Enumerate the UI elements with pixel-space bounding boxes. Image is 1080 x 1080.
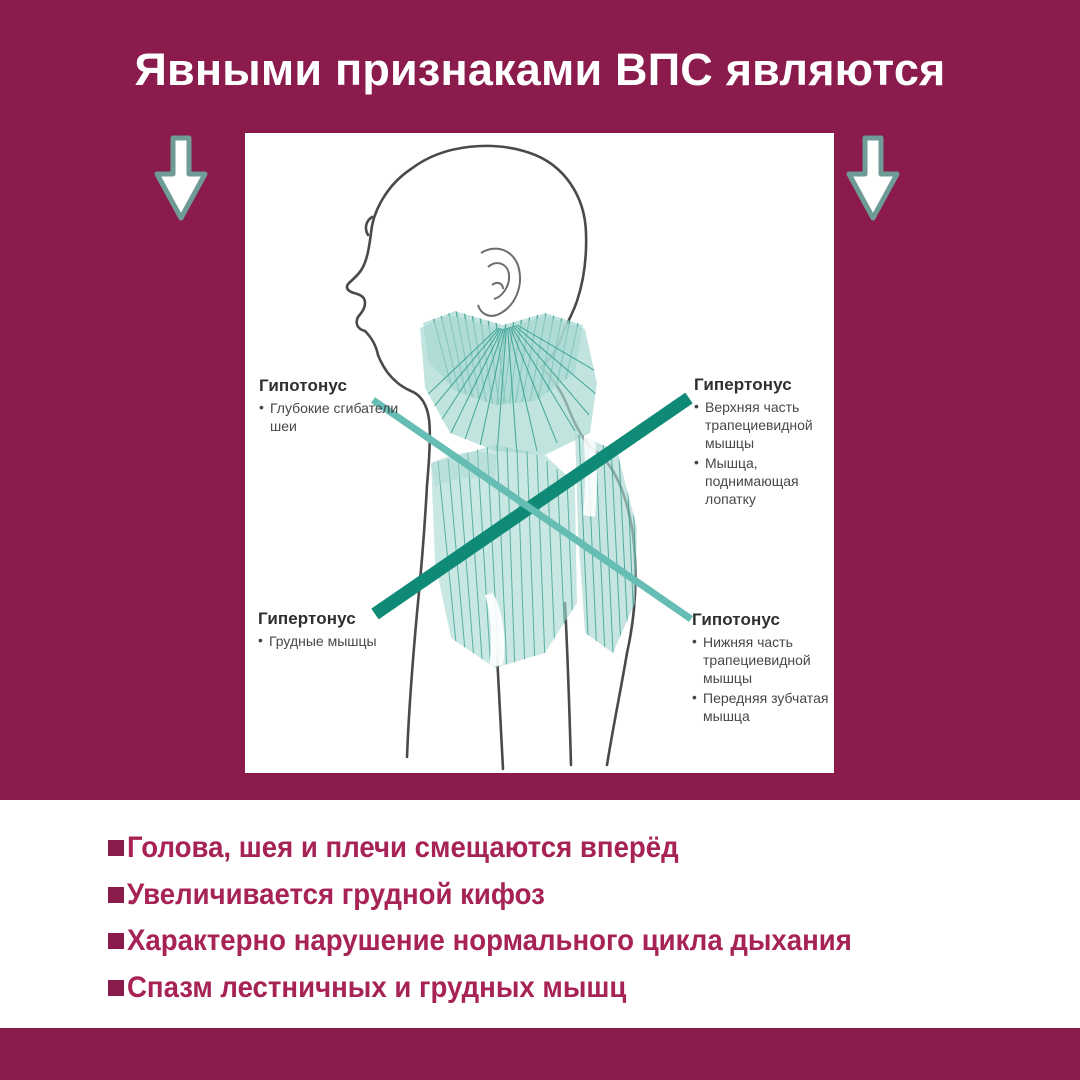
symptom-text: Увеличивается грудной кифоз — [127, 878, 545, 912]
list-item: Мышца, поднимающая лопатку — [694, 455, 834, 509]
label-bottom-right-list: Нижняя часть трапециевидной мышцы Передн… — [692, 634, 834, 726]
label-bottom-left: Гипертонус Грудные мышцы — [258, 609, 408, 653]
list-item: Спазм лестничных и грудных мышц — [108, 971, 1038, 1005]
list-item: Грудные мышцы — [258, 633, 408, 651]
label-bottom-right-heading: Гипотонус — [692, 610, 834, 630]
list-item: Глубокие сгибатели шеи — [259, 400, 409, 436]
label-top-left-heading: Гипотонус — [259, 376, 409, 396]
symptom-text: Спазм лестничных и грудных мышц — [127, 971, 626, 1005]
page-title: Явными признаками ВПС являются — [0, 46, 1080, 93]
arrow-down-icon — [150, 134, 212, 222]
ear-detail — [478, 249, 520, 316]
symptom-text: Голова, шея и плечи смещаются вперёд — [127, 831, 679, 865]
square-bullet-icon — [108, 887, 124, 903]
list-item: Увеличивается грудной кифоз — [108, 878, 1038, 912]
list-item: Характерно нарушение нормального цикла д… — [108, 924, 1038, 958]
symptoms-list: Голова, шея и плечи смещаются вперёд Уве… — [108, 831, 1038, 1017]
label-top-left: Гипотонус Глубокие сгибатели шеи — [259, 376, 409, 438]
symptoms-section: Голова, шея и плечи смещаются вперёд Уве… — [0, 800, 1080, 1028]
label-bottom-left-heading: Гипертонус — [258, 609, 408, 629]
label-bottom-right: Гипотонус Нижняя часть трапециевидной мы… — [692, 610, 834, 728]
trapezius-muscle-group — [420, 315, 599, 455]
list-item: Верхняя часть трапециевидной мышцы — [694, 399, 834, 453]
square-bullet-icon — [108, 840, 124, 856]
label-top-right-heading: Гипертонус — [694, 375, 834, 395]
label-top-right: Гипертонус Верхняя часть трапециевидной … — [694, 375, 834, 510]
list-item: Голова, шея и плечи смещаются вперёд — [108, 831, 1038, 865]
list-item: Нижняя часть трапециевидной мышцы — [692, 634, 834, 688]
square-bullet-icon — [108, 933, 124, 949]
list-item: Передняя зубчатая мышца — [692, 690, 834, 726]
label-bottom-left-list: Грудные мышцы — [258, 633, 408, 651]
label-top-right-list: Верхняя часть трапециевидной мышцы Мышца… — [694, 399, 834, 508]
footer-bar — [0, 1028, 1080, 1080]
label-top-left-list: Глубокие сгибатели шеи — [259, 400, 409, 436]
symptom-text: Характерно нарушение нормального цикла д… — [127, 924, 852, 958]
slide-root: Явными признаками ВПС являются — [0, 0, 1080, 1080]
anatomy-illustration-panel: Гипотонус Глубокие сгибатели шеи Гиперто… — [245, 133, 834, 773]
square-bullet-icon — [108, 980, 124, 996]
arrow-down-icon — [842, 134, 904, 222]
